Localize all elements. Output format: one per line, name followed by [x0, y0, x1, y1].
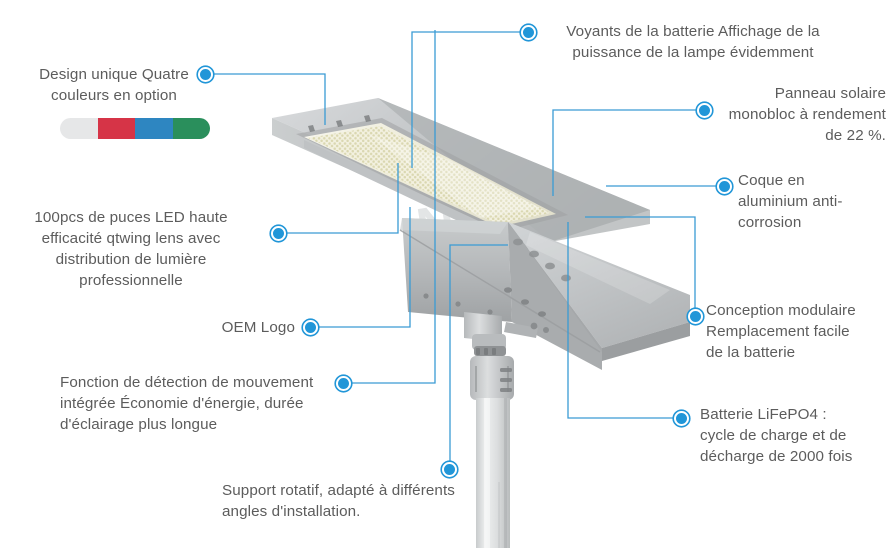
callout-dot-modular-design[interactable]	[688, 309, 703, 324]
callout-solar-panel: Panneau solaire monobloc à rendement de …	[700, 84, 886, 147]
callout-lifepo4-battery: Batterie LiFePO4 : cycle de charge et de…	[700, 405, 886, 468]
callout-aluminium-shell: Coque en aluminium anti- corrosion	[738, 171, 888, 234]
swatch-blue[interactable]	[135, 118, 173, 139]
swatch-white[interactable]	[60, 118, 98, 139]
swatch-red[interactable]	[98, 118, 136, 139]
product-image-solar-street-light: NEED	[250, 90, 690, 548]
callout-design-colors: Design unique Quatre couleurs en option	[30, 65, 198, 107]
callout-dot-battery-indicators[interactable]	[521, 25, 536, 40]
callout-oem-logo: OEM Logo	[140, 318, 295, 339]
swatch-green[interactable]	[173, 118, 211, 139]
callout-dot-oem-logo[interactable]	[303, 320, 318, 335]
callout-led-chips: 100pcs de puces LED haute efficacité qtw…	[0, 208, 262, 292]
callout-dot-rotating-bracket[interactable]	[442, 462, 457, 477]
callout-motion-sensor: Fonction de détection de mouvement intég…	[60, 373, 340, 436]
callout-dot-led-chips[interactable]	[271, 226, 286, 241]
diagram-canvas: NEED	[0, 0, 891, 548]
callout-modular-design: Conception modulaire Remplacement facile…	[706, 301, 886, 364]
callout-dot-design-colors[interactable]	[198, 67, 213, 82]
callout-dot-lifepo4-battery[interactable]	[674, 411, 689, 426]
color-swatch[interactable]	[60, 118, 210, 139]
callout-rotating-bracket: Support rotatif, adapté à différents ang…	[222, 481, 492, 523]
callout-dot-aluminium-shell[interactable]	[717, 179, 732, 194]
callout-battery-indicators: Voyants de la batterie Affichage de la p…	[543, 22, 843, 64]
